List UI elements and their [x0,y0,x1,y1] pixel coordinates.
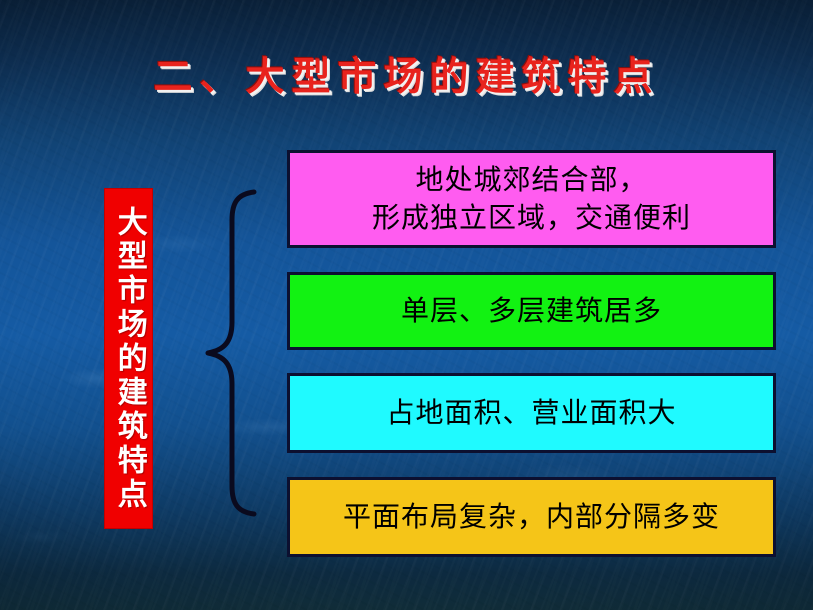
feature-box-location: 地处城郊结合部， 形成独立区域，交通便利 [287,150,776,248]
left-curly-brace-icon [200,186,262,520]
feature-box-location-line-2: 形成独立区域，交通便利 [372,201,691,234]
feature-box-stories: 单层、多层建筑居多 [287,272,776,350]
feature-box-stories-text: 单层、多层建筑居多 [391,292,672,330]
feature-box-area: 占地面积、营业面积大 [287,373,776,453]
feature-box-area-text: 占地面积、营业面积大 [376,394,686,432]
slide-title: 二、大型市场的建筑特点 [0,46,813,102]
vertical-category-label: 大型市场的建筑特点 [104,188,153,529]
feature-box-layout-text: 平面布局复杂，内部分隔多变 [333,498,730,536]
feature-box-location-line-1: 地处城郊结合部， [415,163,647,196]
feature-box-location-text: 地处城郊结合部， 形成独立区域，交通便利 [362,161,701,236]
vertical-category-label-text: 大型市场的建筑特点 [110,206,147,512]
slide-canvas: 二、大型市场的建筑特点 大型市场的建筑特点 地处城郊结合部， 形成独立区域，交通… [0,0,813,610]
feature-box-layout: 平面布局复杂，内部分隔多变 [287,477,776,557]
